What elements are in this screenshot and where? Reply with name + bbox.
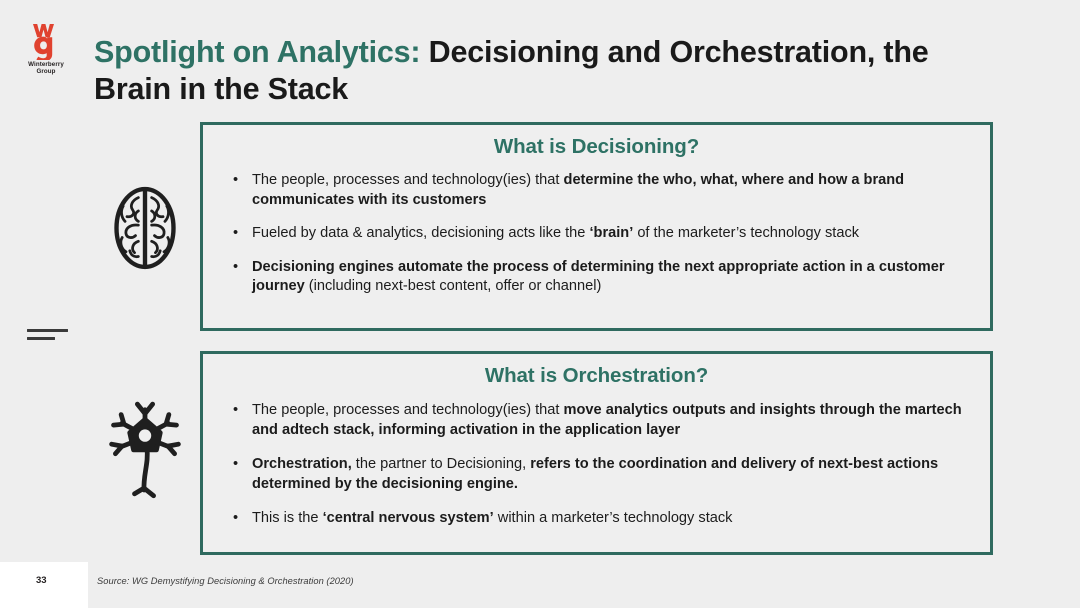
list-item-text: The people, processes and technology(ies… <box>252 402 962 438</box>
bullet-marker: • <box>233 224 238 244</box>
page-title: Spotlight on Analytics: Decisioning and … <box>94 34 974 108</box>
panel-orchestration: What is Orchestration? •The people, proc… <box>200 351 993 555</box>
panel-decisioning-bullet-list: •The people, processes and technology(ie… <box>203 159 990 297</box>
list-item: •Fueled by data & analytics, decisioning… <box>225 224 962 244</box>
list-item-text: Fueled by data & analytics, decisioning … <box>252 225 859 241</box>
page-title-accent: Spotlight on Analytics: <box>94 35 420 69</box>
source-note: Source: WG Demystifying Decisioning & Or… <box>97 576 354 586</box>
list-item: •The people, processes and technology(ie… <box>225 401 962 440</box>
list-item-text: Decisioning engines automate the process… <box>252 259 945 295</box>
bullet-marker: • <box>233 455 238 475</box>
list-item: •This is the ‘central nervous system’ wi… <box>225 509 962 529</box>
panel-orchestration-bullet-list: •The people, processes and technology(ie… <box>203 388 990 529</box>
decorative-rule-bar-top <box>27 329 68 332</box>
page-number: 33 <box>36 575 47 586</box>
decorative-rule-bar-bottom <box>27 337 55 340</box>
list-item-text: Orchestration, the partner to Decisionin… <box>252 456 938 492</box>
list-item-text: The people, processes and technology(ies… <box>252 172 904 208</box>
logo-wordmark-line1: Winterberry <box>28 61 64 68</box>
logo-wordmark: Winterberry Group <box>28 61 64 76</box>
list-item: •The people, processes and technology(ie… <box>225 171 962 210</box>
neuron-icon <box>100 392 190 504</box>
bullet-marker: • <box>233 171 238 191</box>
bullet-marker: • <box>233 509 238 529</box>
list-item-text: This is the ‘central nervous system’ wit… <box>252 510 732 526</box>
bullet-marker: • <box>233 401 238 421</box>
bullet-marker: • <box>233 258 238 278</box>
decorative-rule <box>27 329 72 345</box>
list-item: •Orchestration, the partner to Decisioni… <box>225 455 962 494</box>
panel-decisioning: What is Decisioning? •The people, proces… <box>200 122 993 331</box>
panel-orchestration-heading: What is Orchestration? <box>203 354 990 388</box>
winterberry-group-logo: Winterberry Group <box>18 18 74 80</box>
list-item: •Decisioning engines automate the proces… <box>225 258 962 297</box>
logo-wordmark-line2: Group <box>28 68 64 75</box>
wg-monogram-icon <box>29 18 63 60</box>
brain-icon <box>100 182 190 274</box>
panel-decisioning-heading: What is Decisioning? <box>203 125 990 159</box>
